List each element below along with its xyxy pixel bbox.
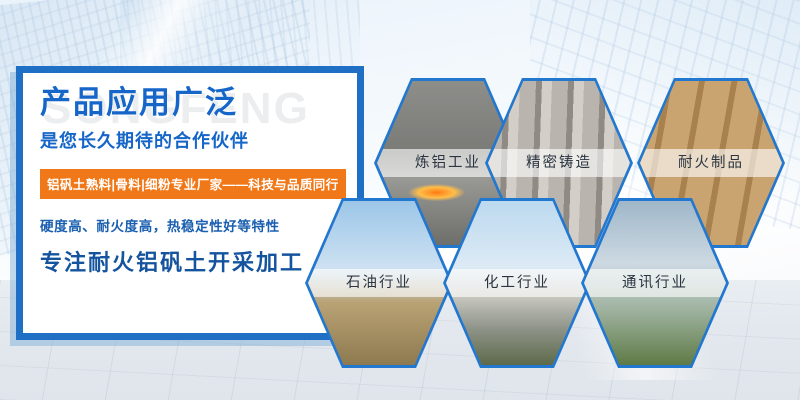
banner-stage: SONGFENG 产品应用广泛 是您长久期待的合作伙伴 铝矾土熟料|骨料|细粉专… (0, 0, 800, 400)
hex-caption: 耐火制品 (640, 149, 782, 177)
hex-caption: 化工行业 (446, 269, 588, 297)
hex-caption: 精密铸造 (488, 149, 630, 177)
hex-caption: 石油行业 (308, 269, 450, 297)
hexagon-gallery: 炼铝工业 精密铸造 耐火制品 石油行业 化工行业 (0, 0, 800, 400)
hex-caption: 通讯行业 (584, 269, 726, 297)
